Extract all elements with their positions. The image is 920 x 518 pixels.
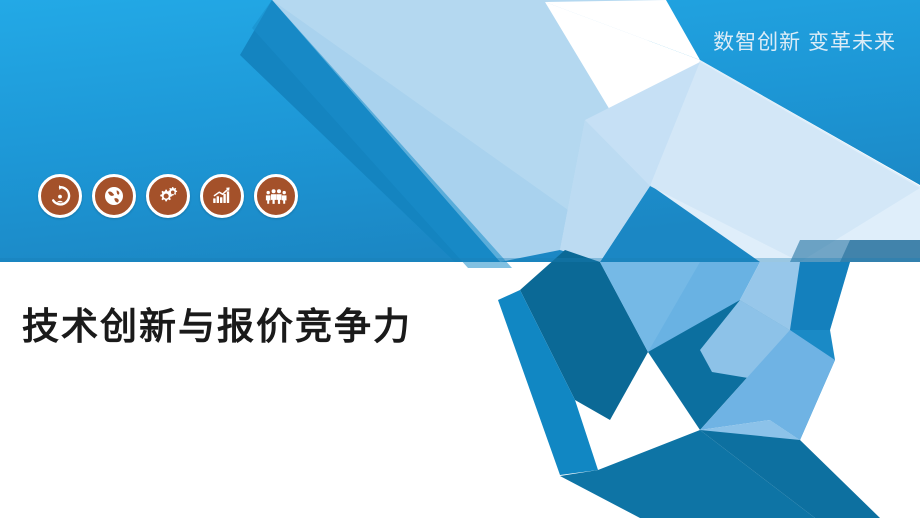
page-title: 技术创新与报价竞争力: [22, 296, 412, 350]
globe-icon: [102, 184, 126, 208]
low-poly-origami-graphic: [0, 0, 920, 518]
badge-globe[interactable]: [92, 174, 136, 218]
slide-canvas: 数智创新 变革未来: [0, 0, 920, 518]
gears-icon: [156, 184, 180, 208]
recycle-person-icon: [48, 184, 72, 208]
tagline: 数智创新 变革未来: [713, 26, 896, 56]
people-group-icon: [264, 184, 288, 208]
badge-bar-chart-growth[interactable]: [200, 174, 244, 218]
badge-recycle-person[interactable]: [38, 174, 82, 218]
badge-gears[interactable]: [146, 174, 190, 218]
bar-chart-growth-icon: [210, 184, 234, 208]
badge-people-group[interactable]: [254, 174, 298, 218]
band-edge-line: [0, 258, 920, 262]
icon-row: [38, 174, 298, 218]
